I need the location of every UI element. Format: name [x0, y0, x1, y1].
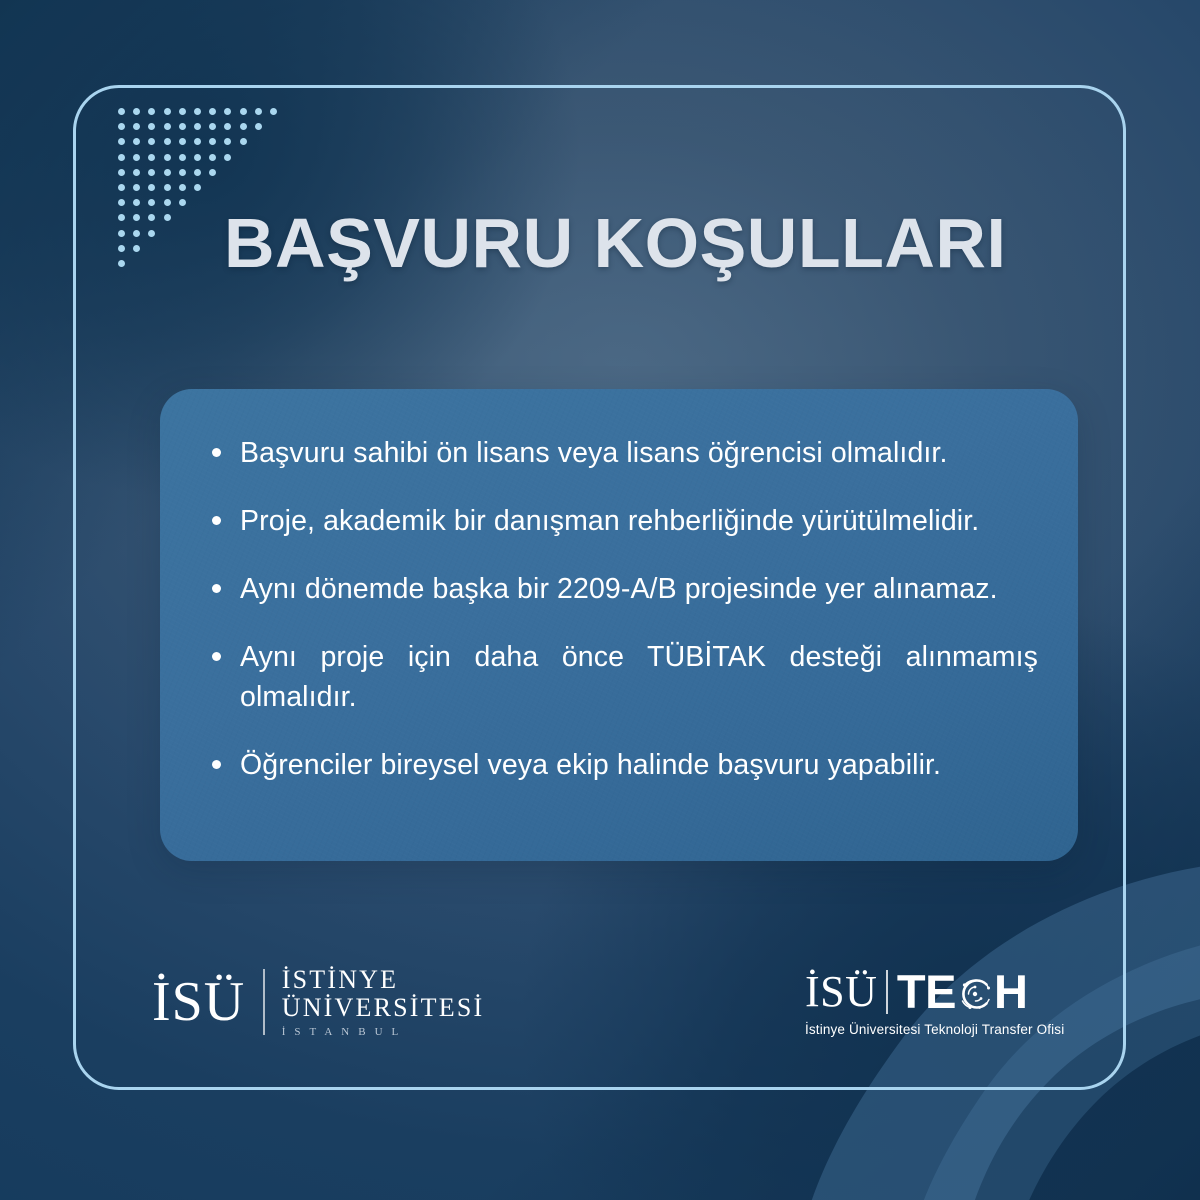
pattern-dot — [209, 123, 216, 130]
logo-divider — [263, 969, 265, 1035]
pattern-dot — [164, 199, 171, 206]
pattern-dot — [224, 123, 231, 130]
condition-item-text: Proje, akademik bir danışman rehberliğin… — [240, 501, 979, 541]
pattern-dot — [194, 154, 201, 161]
pattern-dot — [194, 169, 201, 176]
isu-wordmark: İSTİNYE ÜNİVERSİTESİ İSTANBUL — [282, 966, 485, 1038]
pattern-dot — [133, 108, 140, 115]
pattern-dot — [133, 169, 140, 176]
bullet-icon — [212, 760, 221, 769]
pattern-dot — [148, 108, 155, 115]
conditions-card: Başvuru sahibi ön lisans veya lisans öğr… — [160, 389, 1078, 861]
pattern-dot — [118, 138, 125, 145]
pattern-dot — [209, 169, 216, 176]
pattern-dot — [118, 169, 125, 176]
conditions-list: Başvuru sahibi ön lisans veya lisans öğr… — [212, 433, 1038, 785]
pattern-dot — [118, 184, 125, 191]
pattern-dot — [255, 123, 262, 130]
pattern-dot — [240, 138, 247, 145]
pattern-dot — [118, 230, 125, 237]
circuit-c-icon — [955, 974, 995, 1014]
page-title: BAŞVURU KOŞULLARI — [224, 203, 1006, 283]
pattern-dot — [133, 184, 140, 191]
pattern-dot — [148, 230, 155, 237]
isutech-monogram: İSÜ — [805, 970, 877, 1014]
logo-isu-tech: İSÜ TE — [805, 968, 1064, 1037]
pattern-dot — [179, 169, 186, 176]
pattern-dot — [240, 123, 247, 130]
pattern-dot — [194, 138, 201, 145]
pattern-dot — [118, 260, 125, 267]
pattern-dot — [240, 108, 247, 115]
pattern-dot — [179, 199, 186, 206]
pattern-dot — [148, 123, 155, 130]
pattern-dot — [118, 108, 125, 115]
isu-wordmark-city: İSTANBUL — [282, 1026, 485, 1038]
condition-item-text: Başvuru sahibi ön lisans veya lisans öğr… — [240, 433, 947, 473]
pattern-dot — [179, 184, 186, 191]
isutech-wordmark: TE — [897, 968, 1028, 1015]
pattern-dot — [148, 214, 155, 221]
isutech-lockup: İSÜ TE — [805, 968, 1064, 1015]
isu-monogram: İSÜ — [152, 974, 263, 1030]
isu-wordmark-line2: ÜNİVERSİTESİ — [282, 994, 485, 1022]
pattern-dot — [255, 108, 262, 115]
pattern-dot — [164, 214, 171, 221]
condition-item-text: Aynı dönemde başka bir 2209-A/B projesin… — [240, 569, 998, 609]
pattern-dot — [179, 108, 186, 115]
pattern-dot — [194, 184, 201, 191]
pattern-dot — [118, 154, 125, 161]
pattern-dot — [179, 154, 186, 161]
isutech-divider — [886, 970, 888, 1014]
isutech-word-before: TE — [897, 968, 956, 1015]
pattern-dot — [209, 108, 216, 115]
isu-wordmark-line1: İSTİNYE — [282, 966, 485, 994]
pattern-dot — [179, 123, 186, 130]
pattern-dot — [164, 154, 171, 161]
pattern-dot — [164, 184, 171, 191]
pattern-dot — [209, 138, 216, 145]
condition-item: Başvuru sahibi ön lisans veya lisans öğr… — [212, 433, 1038, 473]
logo-istinye-universitesi: İSÜ İSTİNYE ÜNİVERSİTESİ İSTANBUL — [152, 966, 484, 1038]
pattern-dot — [133, 230, 140, 237]
condition-item: Aynı dönemde başka bir 2209-A/B projesin… — [212, 569, 1038, 609]
pattern-dot — [148, 154, 155, 161]
pattern-dot — [118, 123, 125, 130]
pattern-dot — [209, 154, 216, 161]
condition-item: Öğrenciler bireysel veya ekip halinde ba… — [212, 745, 1038, 785]
pattern-dot — [133, 214, 140, 221]
pattern-dot — [164, 123, 171, 130]
bullet-icon — [212, 448, 221, 457]
pattern-dot — [148, 199, 155, 206]
bullet-icon — [212, 516, 221, 525]
condition-item-text: Aynı proje için daha önce TÜBİTAK desteğ… — [240, 637, 1038, 717]
pattern-dot — [224, 154, 231, 161]
pattern-dot — [133, 199, 140, 206]
pattern-dot — [270, 108, 277, 115]
pattern-dot — [164, 138, 171, 145]
pattern-dot — [118, 245, 125, 252]
pattern-dot — [179, 138, 186, 145]
pattern-dot — [148, 184, 155, 191]
pattern-dot — [148, 169, 155, 176]
bullet-icon — [212, 652, 221, 661]
pattern-dot — [164, 169, 171, 176]
condition-item: Proje, akademik bir danışman rehberliğin… — [212, 501, 1038, 541]
pattern-dot — [118, 214, 125, 221]
pattern-dot — [118, 199, 125, 206]
condition-item: Aynı proje için daha önce TÜBİTAK desteğ… — [212, 637, 1038, 717]
isutech-subtitle: İstinye Üniversitesi Teknoloji Transfer … — [805, 1022, 1064, 1037]
isutech-word-after: H — [994, 968, 1027, 1015]
poster-canvas: BAŞVURU KOŞULLARI Başvuru sahibi ön lisa… — [0, 0, 1200, 1200]
pattern-dot — [148, 138, 155, 145]
pattern-dot — [224, 138, 231, 145]
pattern-dot — [194, 108, 201, 115]
pattern-dot — [194, 123, 201, 130]
condition-item-text: Öğrenciler bireysel veya ekip halinde ba… — [240, 745, 941, 785]
pattern-dot — [164, 108, 171, 115]
pattern-dot — [133, 138, 140, 145]
pattern-dot — [133, 123, 140, 130]
pattern-dot — [224, 108, 231, 115]
pattern-dot — [133, 245, 140, 252]
bullet-icon — [212, 584, 221, 593]
pattern-dot — [133, 154, 140, 161]
